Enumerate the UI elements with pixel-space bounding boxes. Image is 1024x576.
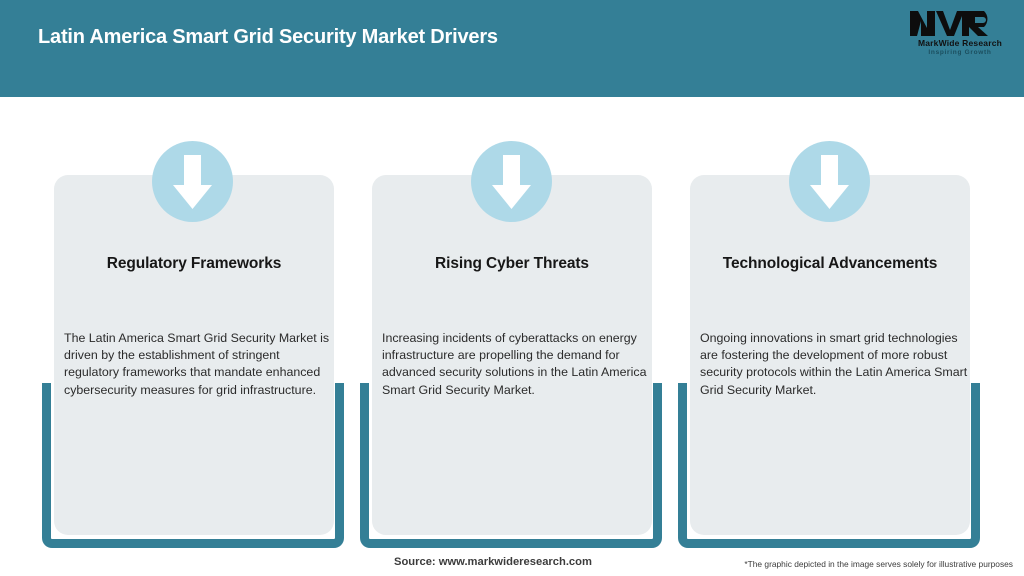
arrow-down-icon xyxy=(152,141,233,222)
source-attribution: Source: www.markwideresearch.com xyxy=(394,556,592,568)
brand-logo: MarkWide Research Inspiring Growth xyxy=(908,8,1012,60)
card-2-icon-badge xyxy=(471,141,552,222)
card-1-title: Regulatory Frameworks xyxy=(54,255,334,273)
arrow-down-icon xyxy=(789,141,870,222)
illustrative-disclaimer: *The graphic depicted in the image serve… xyxy=(744,559,1013,569)
header-bar: Latin America Smart Grid Security Market… xyxy=(0,0,1024,97)
arrow-down-icon xyxy=(471,141,552,222)
page-title: Latin America Smart Grid Security Market… xyxy=(38,26,498,49)
card-3-body: Ongoing innovations in smart grid techno… xyxy=(700,330,972,399)
driver-card-2[interactable]: Rising Cyber Threats Increasing incident… xyxy=(372,175,652,535)
driver-card-1[interactable]: Regulatory Frameworks The Latin America … xyxy=(54,175,334,535)
card-2-body: Increasing incidents of cyberattacks on … xyxy=(382,330,654,399)
card-1-icon-badge xyxy=(152,141,233,222)
card-3-icon-badge xyxy=(789,141,870,222)
card-3-title: Technological Advancements xyxy=(690,255,970,273)
card-1-body: The Latin America Smart Grid Security Ma… xyxy=(64,330,336,399)
card-2-title: Rising Cyber Threats xyxy=(372,255,652,273)
logo-company-name: MarkWide Research xyxy=(908,38,1012,48)
infographic-canvas: Latin America Smart Grid Security Market… xyxy=(0,0,1024,576)
logo-tagline: Inspiring Growth xyxy=(908,48,1012,57)
mwr-logo-icon xyxy=(908,8,1012,38)
driver-card-3[interactable]: Technological Advancements Ongoing innov… xyxy=(690,175,970,535)
